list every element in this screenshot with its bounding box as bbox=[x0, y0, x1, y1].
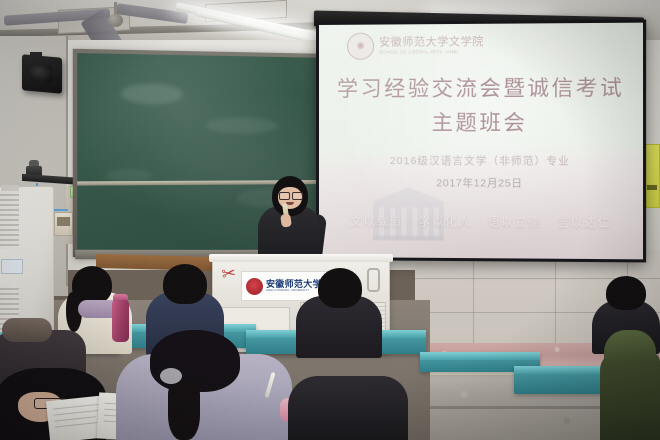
text-line bbox=[53, 410, 101, 416]
slide-logo: ✺ 安徽师范大学文学院 SCHOOL OF LIBERAL ARTS, AHNU bbox=[347, 32, 484, 60]
slide-title-line2: 主题班会 bbox=[319, 106, 643, 137]
fur-collar bbox=[2, 318, 52, 342]
banner-text: 安徽师范大学 ANHUI NORMAL UNIVERSITY bbox=[266, 280, 322, 293]
text-line bbox=[53, 404, 99, 410]
motto-item: 语以立德 bbox=[488, 213, 541, 230]
presenter-hand bbox=[280, 213, 292, 227]
red-ribbon-icon: ✂ bbox=[221, 264, 240, 288]
student-body bbox=[288, 376, 408, 440]
room: 节约用电 bbox=[0, 0, 660, 440]
hair-tie bbox=[160, 368, 182, 384]
student-body bbox=[600, 352, 660, 440]
ac-label bbox=[1, 259, 23, 274]
glasses-lens bbox=[292, 192, 303, 200]
slide: ✺ 安徽师范大学文学院 SCHOOL OF LIBERAL ARTS, AHNU… bbox=[319, 23, 643, 260]
student-ponytail bbox=[168, 378, 200, 440]
student-head bbox=[163, 264, 207, 304]
slide-logo-text: 安徽师范大学文学院 SCHOOL OF LIBERAL ARTS, AHNU bbox=[379, 37, 484, 55]
desk-surface bbox=[420, 352, 540, 360]
glasses-icon bbox=[279, 192, 301, 198]
air-conditioner bbox=[0, 186, 54, 338]
poster-text-block bbox=[647, 185, 657, 190]
seal-glyph: ✺ bbox=[356, 40, 364, 52]
chalk-smudge bbox=[206, 117, 278, 134]
yellow-wall-poster bbox=[645, 144, 660, 208]
university-seal-icon bbox=[246, 278, 263, 295]
lectern-top bbox=[209, 254, 393, 262]
chalk-smudge bbox=[121, 83, 183, 104]
slide-subject: 2016级汉语言文学（非师范）专业 bbox=[319, 153, 643, 169]
wall-notice-image bbox=[57, 217, 70, 226]
lectern-handle[interactable] bbox=[367, 268, 380, 292]
slide-date: 2017年12月25日 bbox=[319, 175, 643, 191]
wall-notice bbox=[54, 212, 73, 236]
slide-institution-cn: 安徽师范大学文学院 bbox=[379, 37, 484, 49]
motto-item: 学以化人 bbox=[418, 212, 471, 229]
tile-seam bbox=[473, 250, 474, 343]
text-line bbox=[54, 416, 96, 421]
glasses-lens bbox=[279, 192, 290, 200]
wall-corner bbox=[66, 36, 68, 286]
ac-grille bbox=[0, 191, 19, 249]
classroom-photo: 节约用电 bbox=[0, 0, 660, 440]
fan-hub bbox=[108, 14, 123, 27]
pink-thermos bbox=[112, 300, 129, 342]
slide-motto: 文以载道 学以化人 语以立德 言以达仁 bbox=[319, 212, 643, 231]
projection-screen: ✺ 安徽师范大学文学院 SCHOOL OF LIBERAL ARTS, AHNU… bbox=[316, 20, 646, 263]
slide-title-line1: 学习经验交流会暨诚信考试 bbox=[319, 72, 643, 103]
motto-item: 文以载道 bbox=[350, 212, 402, 229]
speaker-cone bbox=[30, 64, 52, 82]
university-seal-icon: ✺ bbox=[347, 33, 374, 60]
slide-institution-en: SCHOOL OF LIBERAL ARTS, AHNU bbox=[379, 50, 484, 55]
tile-seam bbox=[555, 250, 556, 343]
wall-speaker-icon bbox=[22, 54, 62, 93]
banner-name-en: ANHUI NORMAL UNIVERSITY bbox=[266, 289, 322, 292]
cap-icon bbox=[604, 330, 656, 364]
motto-item: 言以达仁 bbox=[557, 213, 611, 231]
student-head bbox=[606, 276, 646, 310]
text-line bbox=[55, 422, 102, 428]
ceiling-fan-icon bbox=[52, 2, 182, 44]
student-head bbox=[318, 268, 362, 308]
